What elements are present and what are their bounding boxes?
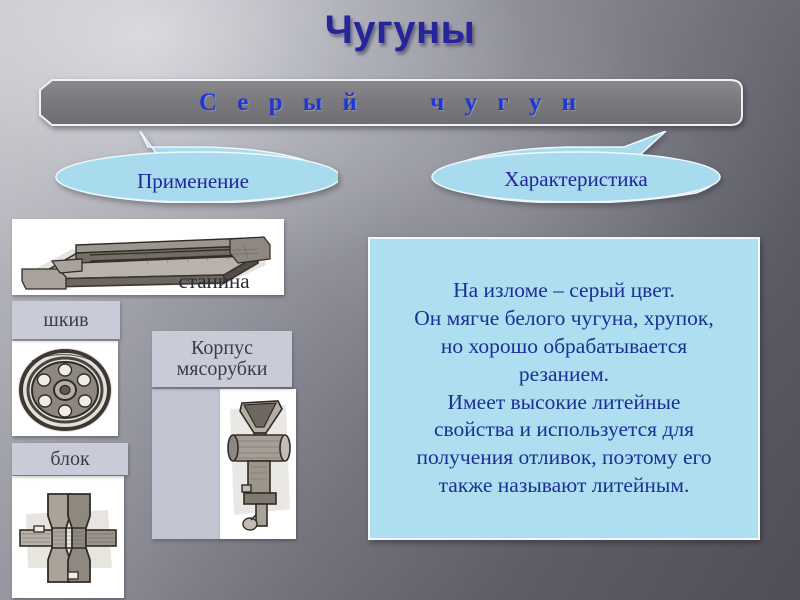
callout-primenenie-label: Применение: [48, 169, 338, 194]
figure-shkiv-label: шкив: [12, 301, 120, 339]
figure-korpus-label-line1: Корпус: [191, 338, 253, 359]
callout-harakteristika: Характеристика: [428, 131, 724, 203]
section-banner: С е р ы й ч у г у н: [38, 78, 744, 127]
callout-primenenie: Применение: [48, 131, 338, 203]
pulley-photo-icon: [12, 341, 118, 436]
slide-canvas: Чугуны С е р ы й ч у г у н Применение: [0, 0, 800, 600]
figure-shkiv-image: [12, 341, 118, 436]
figure-korpus-label: Корпус мясорубки: [152, 331, 292, 387]
figure-korpus-image: [220, 389, 296, 539]
sheave-block-photo-icon: [12, 476, 124, 598]
description-text: На изломе – серый цвет. Он мягче белого …: [400, 277, 728, 501]
figure-stanina-label: станина: [150, 268, 278, 294]
figure-blok-image: [12, 476, 124, 598]
banner-label: С е р ы й ч у г у н: [38, 78, 744, 127]
description-box: На изломе – серый цвет. Он мягче белого …: [368, 237, 760, 540]
figure-korpus-label-line2: мясорубки: [177, 359, 268, 380]
meat-grinder-body-photo-icon: [220, 389, 296, 539]
callout-harakteristika-label: Характеристика: [428, 167, 724, 192]
figure-blok-label: блок: [12, 443, 128, 475]
page-title: Чугуны: [0, 8, 800, 53]
figure-korpus-filler-column: [152, 389, 220, 539]
